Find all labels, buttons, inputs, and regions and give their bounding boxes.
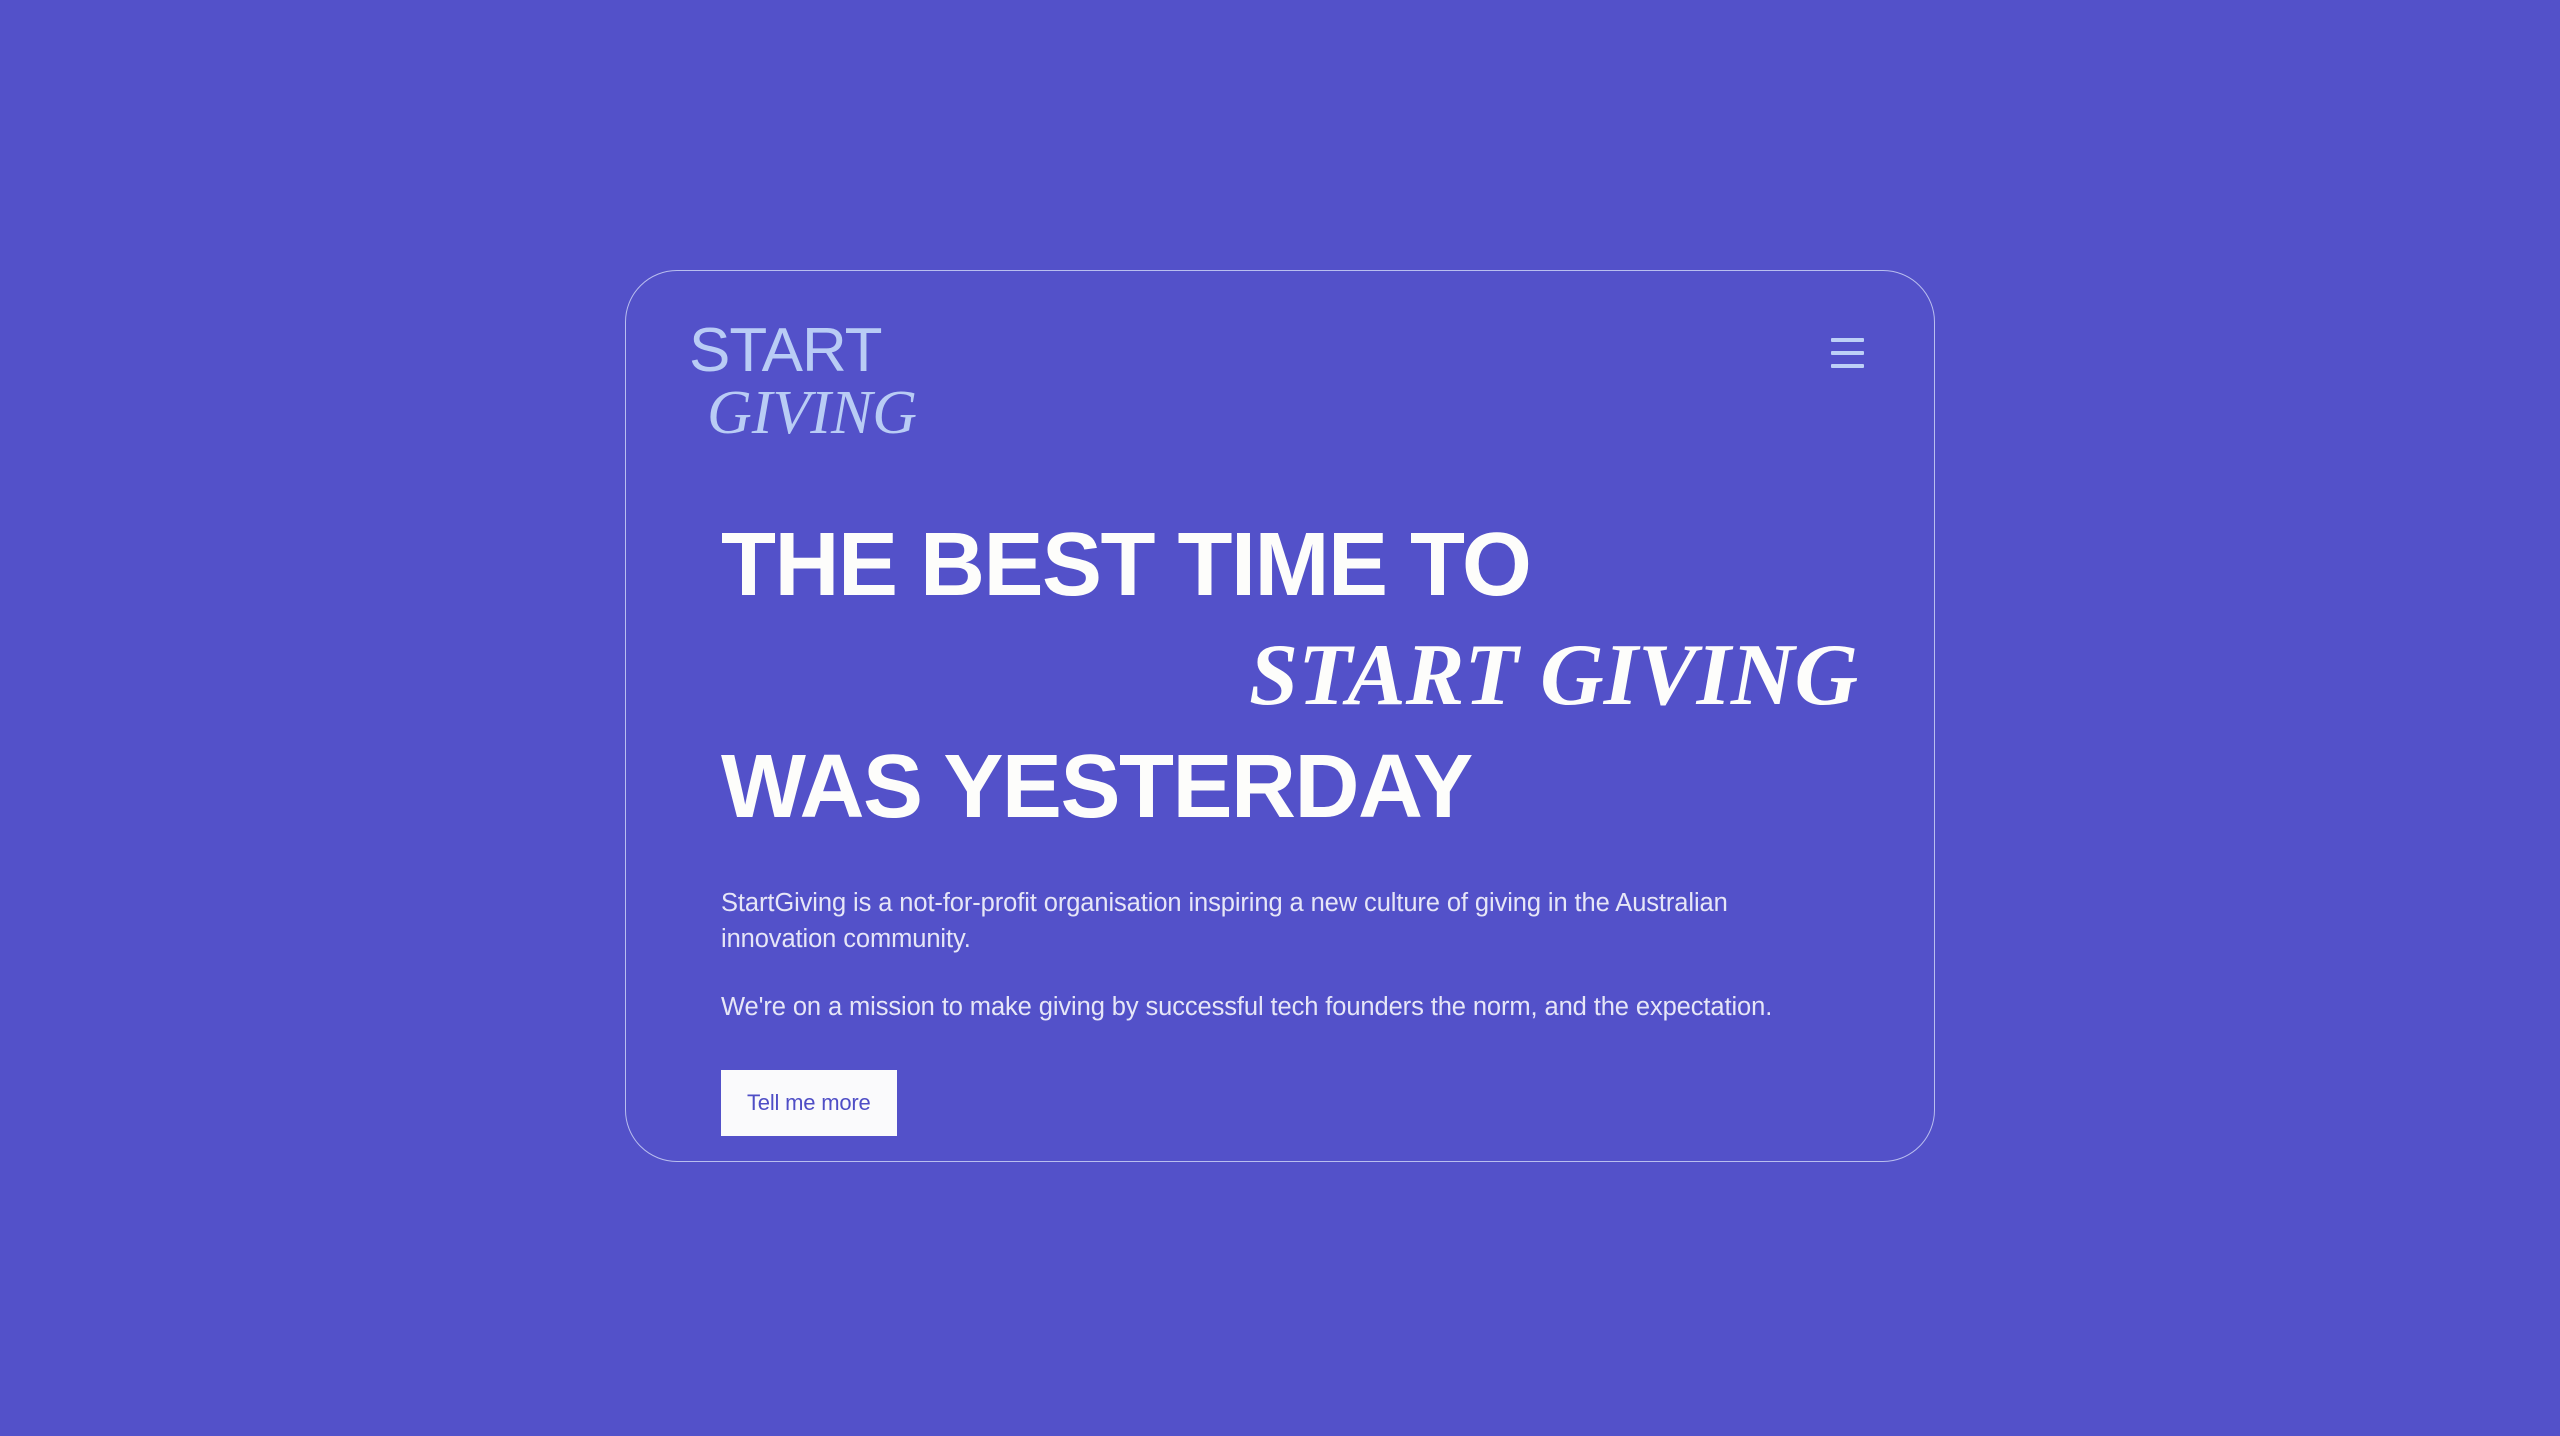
hamburger-menu-icon[interactable] bbox=[1823, 331, 1871, 375]
hero-description: StartGiving is a not-for-profit organisa… bbox=[721, 885, 1811, 1026]
brand-logo-line-giving: GIVING bbox=[689, 382, 989, 445]
hero-paragraph-1: StartGiving is a not-for-profit organisa… bbox=[721, 885, 1811, 957]
hero-card: START GIVING THE BEST TIME TO START GIVI… bbox=[625, 270, 1935, 1162]
hamburger-bar-middle bbox=[1831, 351, 1864, 355]
hero-body: THE BEST TIME TO START GIVING WAS YESTER… bbox=[721, 508, 1866, 1136]
tell-me-more-button[interactable]: Tell me more bbox=[721, 1070, 897, 1136]
card-header: START GIVING bbox=[626, 271, 1934, 461]
hero-paragraph-2: We're on a mission to make giving by suc… bbox=[721, 989, 1811, 1025]
headline-line-3: WAS YESTERDAY bbox=[721, 730, 1866, 844]
brand-logo[interactable]: START GIVING bbox=[689, 321, 989, 445]
headline-line-1: THE BEST TIME TO bbox=[721, 508, 1866, 622]
hero-headline: THE BEST TIME TO START GIVING WAS YESTER… bbox=[721, 508, 1866, 844]
hamburger-bar-top bbox=[1831, 338, 1864, 342]
brand-logo-line-start: START bbox=[689, 321, 989, 382]
hamburger-bar-bottom bbox=[1831, 364, 1864, 368]
headline-line-2: START GIVING bbox=[721, 622, 1866, 729]
